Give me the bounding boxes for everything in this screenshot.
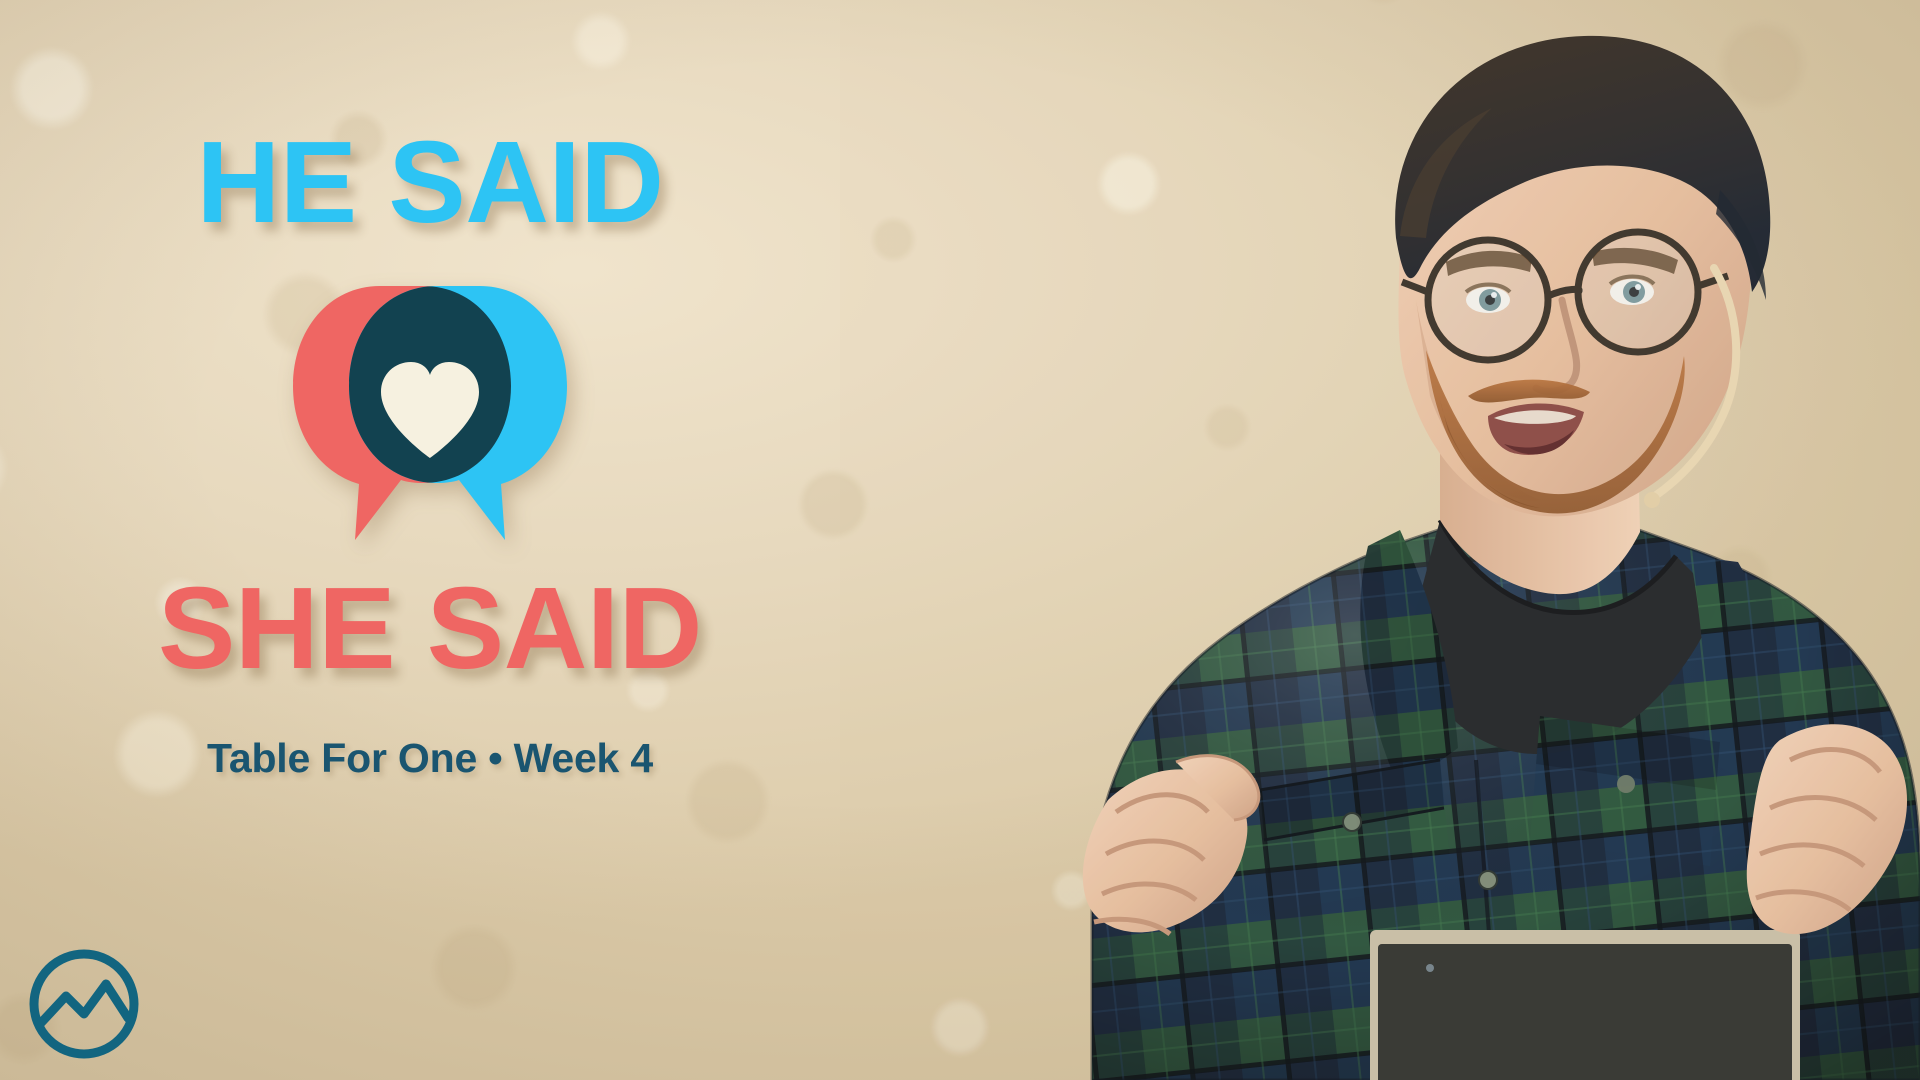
series-title-line-1: HE SAID [0, 124, 860, 240]
circle-mountain-logo-icon [26, 946, 142, 1062]
title-block: HE SAID [0, 0, 860, 1080]
series-title-line-2: SHE SAID [0, 570, 860, 686]
series-subtitle: Table For One • Week 4 [0, 735, 860, 782]
slide-canvas: HE SAID [0, 0, 1920, 1080]
speaker-photo [840, 0, 1920, 1080]
speech-bubbles-heart-icon [285, 278, 575, 548]
